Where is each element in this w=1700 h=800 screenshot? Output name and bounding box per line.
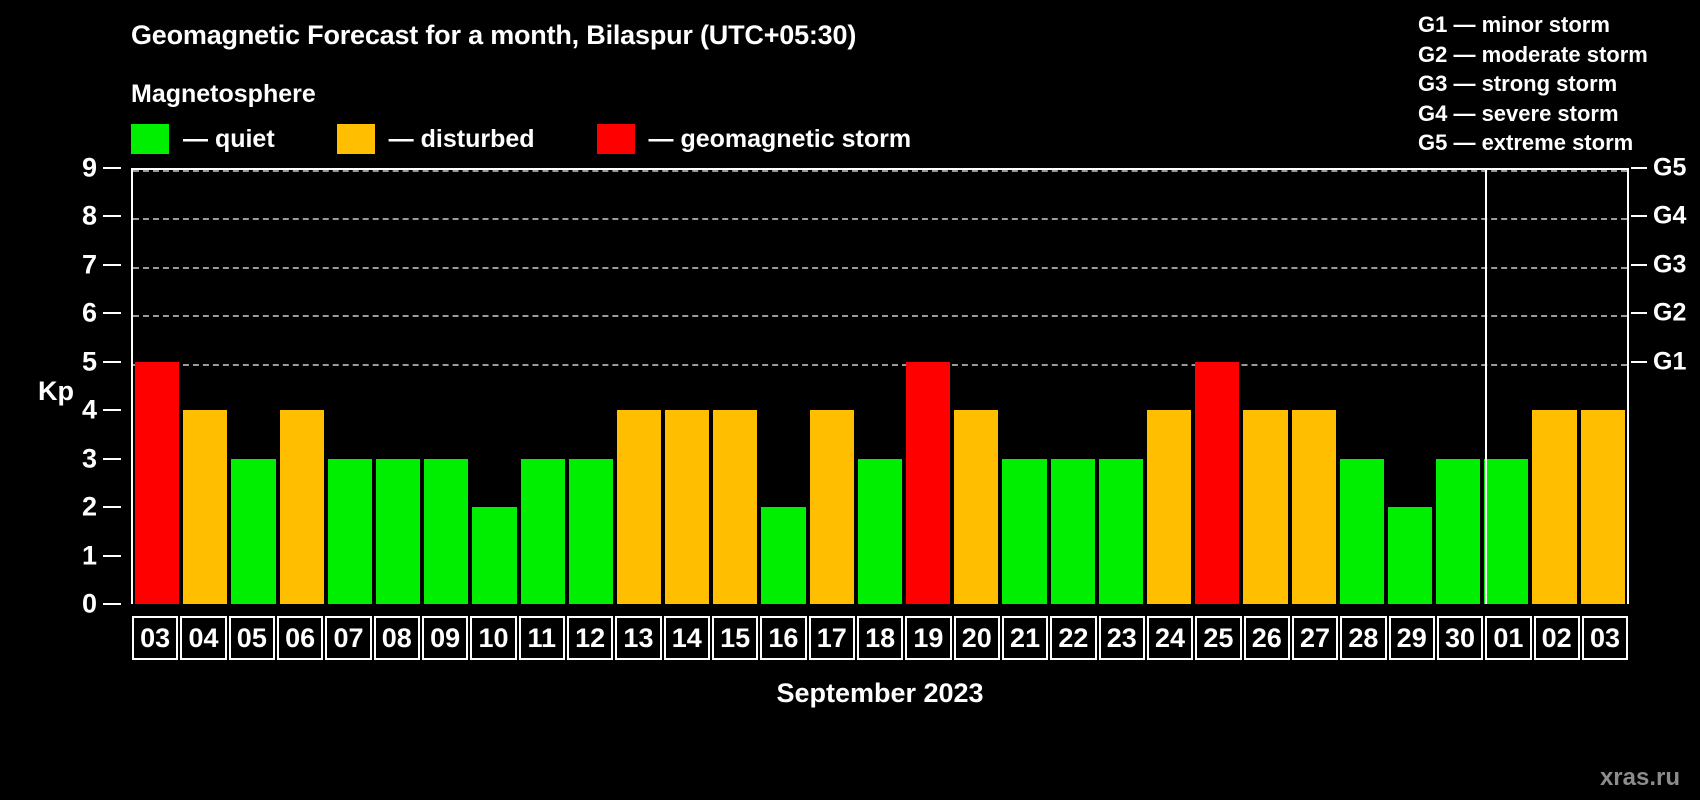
legend-label-disturbed: — disturbed bbox=[389, 125, 535, 154]
y-tick-label-4: 4 bbox=[82, 395, 97, 426]
y-tick-label-7: 7 bbox=[82, 249, 97, 280]
legend-swatch-quiet-icon bbox=[131, 124, 169, 154]
g-scale-axis: G1G2G3G4G5 bbox=[1631, 168, 1700, 604]
date-label-8: 11 bbox=[519, 616, 565, 660]
bar-07-quiet[interactable] bbox=[328, 459, 372, 604]
magnetosphere-label: Magnetosphere bbox=[131, 80, 316, 109]
bar-08-quiet[interactable] bbox=[376, 459, 420, 604]
bar-slot bbox=[952, 170, 1000, 604]
bar-06-disturbed[interactable] bbox=[280, 410, 324, 604]
y-tick-mark-8 bbox=[103, 215, 121, 217]
y-tick-mark-0 bbox=[103, 603, 121, 605]
date-label-17: 20 bbox=[954, 616, 1000, 660]
date-label-7: 10 bbox=[470, 616, 516, 660]
bar-slot bbox=[808, 170, 856, 604]
date-label-24: 27 bbox=[1292, 616, 1338, 660]
bar-24-disturbed[interactable] bbox=[1147, 410, 1191, 604]
y-tick-mark-7 bbox=[103, 264, 121, 266]
bar-21-quiet[interactable] bbox=[1002, 459, 1046, 604]
y-tick-mark-9 bbox=[103, 167, 121, 169]
g-tick-label-g2: G2 bbox=[1653, 299, 1686, 328]
x-axis-date-labels: 0304050607080910111213141516171819202122… bbox=[131, 616, 1629, 660]
date-label-10: 13 bbox=[615, 616, 661, 660]
bar-20-disturbed[interactable] bbox=[954, 410, 998, 604]
forecast-divider-line bbox=[1485, 170, 1487, 604]
bar-slot bbox=[1482, 170, 1530, 604]
bar-26-disturbed[interactable] bbox=[1243, 410, 1287, 604]
date-label-12: 15 bbox=[712, 616, 758, 660]
legend-item-storm: — geomagnetic storm bbox=[597, 124, 912, 154]
g-scale-row-g5: G5 — extreme storm bbox=[1418, 128, 1678, 158]
g-tick-label-g5: G5 bbox=[1653, 154, 1686, 183]
bar-slot bbox=[856, 170, 904, 604]
bar-slot bbox=[1338, 170, 1386, 604]
bar-slot bbox=[1000, 170, 1048, 604]
y-tick-label-6: 6 bbox=[82, 298, 97, 329]
legend-item-disturbed: — disturbed bbox=[337, 124, 535, 154]
bar-slot bbox=[1386, 170, 1434, 604]
date-label-4: 07 bbox=[325, 616, 371, 660]
g-tick-mark-g3 bbox=[1631, 264, 1647, 266]
bar-27-disturbed[interactable] bbox=[1292, 410, 1336, 604]
bar-series bbox=[133, 170, 1627, 604]
bar-29-quiet[interactable] bbox=[1388, 507, 1432, 604]
g-tick-mark-g1 bbox=[1631, 361, 1647, 363]
date-label-2: 05 bbox=[229, 616, 275, 660]
bar-slot bbox=[422, 170, 470, 604]
bar-slot bbox=[519, 170, 567, 604]
date-label-16: 19 bbox=[905, 616, 951, 660]
bar-15-disturbed[interactable] bbox=[713, 410, 757, 604]
bar-09-quiet[interactable] bbox=[424, 459, 468, 604]
legend-label-storm: — geomagnetic storm bbox=[649, 125, 912, 154]
y-tick-label-0: 0 bbox=[82, 589, 97, 620]
g-tick-mark-g5 bbox=[1631, 167, 1647, 169]
bar-28-quiet[interactable] bbox=[1340, 459, 1384, 604]
bar-05-quiet[interactable] bbox=[231, 459, 275, 604]
bar-slot bbox=[1097, 170, 1145, 604]
g-scale-row-g1: G1 — minor storm bbox=[1418, 10, 1678, 40]
bar-slot bbox=[326, 170, 374, 604]
date-label-0: 03 bbox=[132, 616, 178, 660]
date-label-11: 14 bbox=[664, 616, 710, 660]
y-tick-label-5: 5 bbox=[82, 346, 97, 377]
bar-01-quiet[interactable] bbox=[1484, 459, 1528, 604]
bar-slot bbox=[904, 170, 952, 604]
y-tick-mark-5 bbox=[103, 361, 121, 363]
date-label-28: 01 bbox=[1485, 616, 1531, 660]
bar-slot bbox=[374, 170, 422, 604]
y-tick-label-8: 8 bbox=[82, 201, 97, 232]
g-tick-mark-g2 bbox=[1631, 312, 1647, 314]
bar-22-quiet[interactable] bbox=[1051, 459, 1095, 604]
bar-03-storm[interactable] bbox=[135, 362, 179, 604]
bar-slot bbox=[567, 170, 615, 604]
bar-slot bbox=[1145, 170, 1193, 604]
bar-25-storm[interactable] bbox=[1195, 362, 1239, 604]
bar-slot bbox=[470, 170, 518, 604]
legend-swatch-storm-icon bbox=[597, 124, 635, 154]
y-axis-title: Kp bbox=[38, 376, 74, 407]
bar-slot bbox=[133, 170, 181, 604]
bar-03-disturbed[interactable] bbox=[1581, 410, 1625, 604]
bar-slot bbox=[1290, 170, 1338, 604]
bar-18-quiet[interactable] bbox=[858, 459, 902, 604]
date-label-26: 29 bbox=[1389, 616, 1435, 660]
page-title: Geomagnetic Forecast for a month, Bilasp… bbox=[131, 20, 856, 51]
bar-slot bbox=[181, 170, 229, 604]
date-label-19: 22 bbox=[1050, 616, 1096, 660]
date-label-1: 04 bbox=[180, 616, 226, 660]
bar-slot bbox=[1530, 170, 1578, 604]
bar-23-quiet[interactable] bbox=[1099, 459, 1143, 604]
bar-14-disturbed[interactable] bbox=[665, 410, 709, 604]
date-label-25: 28 bbox=[1340, 616, 1386, 660]
g-scale-row-g3: G3 — strong storm bbox=[1418, 69, 1678, 99]
bar-11-quiet[interactable] bbox=[521, 459, 565, 604]
bar-30-quiet[interactable] bbox=[1436, 459, 1480, 604]
date-label-14: 17 bbox=[809, 616, 855, 660]
g-tick-label-g1: G1 bbox=[1653, 347, 1686, 376]
y-tick-mark-3 bbox=[103, 458, 121, 460]
bar-slot bbox=[1579, 170, 1627, 604]
date-label-30: 03 bbox=[1582, 616, 1628, 660]
plot-area bbox=[131, 168, 1629, 604]
bar-slot bbox=[278, 170, 326, 604]
bar-10-quiet[interactable] bbox=[472, 507, 516, 604]
bar-slot bbox=[1049, 170, 1097, 604]
bar-slot bbox=[229, 170, 277, 604]
date-label-22: 25 bbox=[1195, 616, 1241, 660]
date-label-29: 02 bbox=[1534, 616, 1580, 660]
date-label-5: 08 bbox=[374, 616, 420, 660]
legend-label-quiet: — quiet bbox=[183, 125, 275, 154]
y-tick-mark-4 bbox=[103, 409, 121, 411]
y-tick-label-9: 9 bbox=[82, 153, 97, 184]
g-scale-row-g2: G2 — moderate storm bbox=[1418, 40, 1678, 70]
date-label-15: 18 bbox=[857, 616, 903, 660]
bar-17-disturbed[interactable] bbox=[810, 410, 854, 604]
y-tick-mark-1 bbox=[103, 555, 121, 557]
legend-swatch-disturbed-icon bbox=[337, 124, 375, 154]
legend: — quiet — disturbed — geomagnetic storm bbox=[131, 124, 911, 154]
bar-slot bbox=[711, 170, 759, 604]
bar-slot bbox=[1434, 170, 1482, 604]
bar-slot bbox=[1193, 170, 1241, 604]
bar-slot bbox=[615, 170, 663, 604]
legend-item-quiet: — quiet bbox=[131, 124, 275, 154]
bar-12-quiet[interactable] bbox=[569, 459, 613, 604]
y-tick-mark-2 bbox=[103, 506, 121, 508]
date-label-21: 24 bbox=[1147, 616, 1193, 660]
date-label-3: 06 bbox=[277, 616, 323, 660]
date-label-13: 16 bbox=[760, 616, 806, 660]
bar-04-disturbed[interactable] bbox=[183, 410, 227, 604]
date-label-23: 26 bbox=[1244, 616, 1290, 660]
y-tick-mark-6 bbox=[103, 312, 121, 314]
date-label-6: 09 bbox=[422, 616, 468, 660]
g-tick-mark-g4 bbox=[1631, 215, 1647, 217]
y-tick-label-1: 1 bbox=[82, 540, 97, 571]
bar-13-disturbed[interactable] bbox=[617, 410, 661, 604]
bar-slot bbox=[759, 170, 807, 604]
date-label-27: 30 bbox=[1437, 616, 1483, 660]
g-scale-row-g4: G4 — severe storm bbox=[1418, 99, 1678, 129]
bar-slot bbox=[1241, 170, 1289, 604]
date-label-9: 12 bbox=[567, 616, 613, 660]
g-tick-label-g3: G3 bbox=[1653, 250, 1686, 279]
bar-slot bbox=[663, 170, 711, 604]
date-label-18: 21 bbox=[1002, 616, 1048, 660]
g-tick-label-g4: G4 bbox=[1653, 202, 1686, 231]
bar-16-quiet[interactable] bbox=[761, 507, 805, 604]
y-tick-label-2: 2 bbox=[82, 492, 97, 523]
bar-02-disturbed[interactable] bbox=[1532, 410, 1576, 604]
bar-19-storm[interactable] bbox=[906, 362, 950, 604]
g-scale-legend: G1 — minor storm G2 — moderate storm G3 … bbox=[1418, 10, 1678, 158]
watermark: xras.ru bbox=[1600, 764, 1680, 792]
y-tick-label-3: 3 bbox=[82, 443, 97, 474]
x-axis-title: September 2023 bbox=[131, 678, 1629, 709]
date-label-20: 23 bbox=[1099, 616, 1145, 660]
